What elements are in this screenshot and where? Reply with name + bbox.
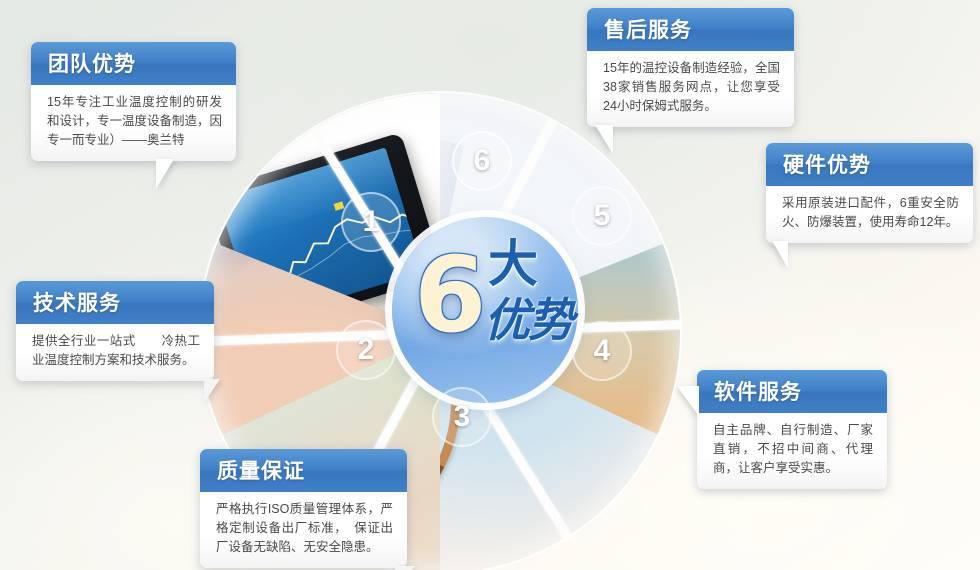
callout-card-team[interactable]: 团队优势 15年专注工业温度控制的研发和设计，专一温度设备制造，因专一而专业）—… (31, 42, 236, 161)
segment-number-2[interactable]: 2 (336, 320, 396, 380)
segment-number-4[interactable]: 4 (572, 321, 632, 381)
card-tail-quality (395, 566, 415, 570)
card-tail-after-sales (595, 125, 613, 154)
card-title-team: 团队优势 (31, 42, 236, 85)
callout-card-hardware[interactable]: 硬件优势 采用原装进口配件，6重安全防火、防爆装置，使用寿命12年。 (766, 143, 973, 243)
card-title-technical: 技术服务 (16, 281, 214, 324)
card-title-after-sales: 售后服务 (587, 8, 794, 51)
card-title-quality: 质量保证 (200, 449, 407, 492)
segment-number-1[interactable]: 1 (341, 192, 401, 252)
center-word: 优势 (484, 297, 572, 343)
card-tail-hardware (772, 241, 788, 268)
segment-number-6[interactable]: 6 (452, 131, 512, 191)
card-title-hardware: 硬件优势 (766, 143, 973, 186)
card-body-hardware: 采用原装进口配件，6重安全防火、防爆装置，使用寿命12年。 (766, 186, 973, 243)
card-body-technical: 提供全行业一站式 冷热工业温度控制方案和技术服务。 (16, 324, 214, 381)
card-tail-software (677, 386, 699, 416)
callout-card-after-sales[interactable]: 售后服务 15年的温控设备制造经验，全国38家销售服务网点，让您享受24小时保姆… (587, 8, 794, 127)
callout-card-technical[interactable]: 技术服务 提供全行业一站式 冷热工业温度控制方案和技术服务。 (16, 281, 214, 381)
callout-card-software[interactable]: 软件服务 自主品牌、自行制造、厂家直销，不招中间商、代理商，让客户享受实惠。 (697, 370, 887, 489)
poster-canvas: 6 大 优势 1 2 3 4 5 6 团队优势 15年专注工业温度控制的研发和设… (0, 0, 980, 570)
card-tail-technical (204, 379, 220, 403)
center-unit: 大 (488, 239, 538, 289)
segment-number-5[interactable]: 5 (572, 186, 632, 246)
card-body-team: 15年专注工业温度控制的研发和设计，专一温度设备制造，因专一而专业）——奥兰特 (31, 85, 236, 161)
card-body-software: 自主品牌、自行制造、厂家直销，不招中间商、代理商，让客户享受实惠。 (697, 413, 887, 489)
card-body-after-sales: 15年的温控设备制造经验，全国38家销售服务网点，让您享受24小时保姆式服务。 (587, 51, 794, 127)
center-badge: 6 大 优势 (392, 217, 578, 403)
card-body-quality: 严格执行ISO质量管理体系，严格定制设备出厂标准， 保证出厂设备无缺陷、无安全隐… (200, 492, 407, 568)
callout-card-quality[interactable]: 质量保证 严格执行ISO质量管理体系，严格定制设备出厂标准， 保证出厂设备无缺陷… (200, 449, 407, 568)
card-tail-team (156, 159, 174, 189)
segment-number-3[interactable]: 3 (432, 387, 492, 447)
center-number: 6 (414, 243, 486, 347)
card-title-software: 软件服务 (697, 370, 887, 413)
center-badge-text: 6 大 优势 (392, 217, 578, 403)
